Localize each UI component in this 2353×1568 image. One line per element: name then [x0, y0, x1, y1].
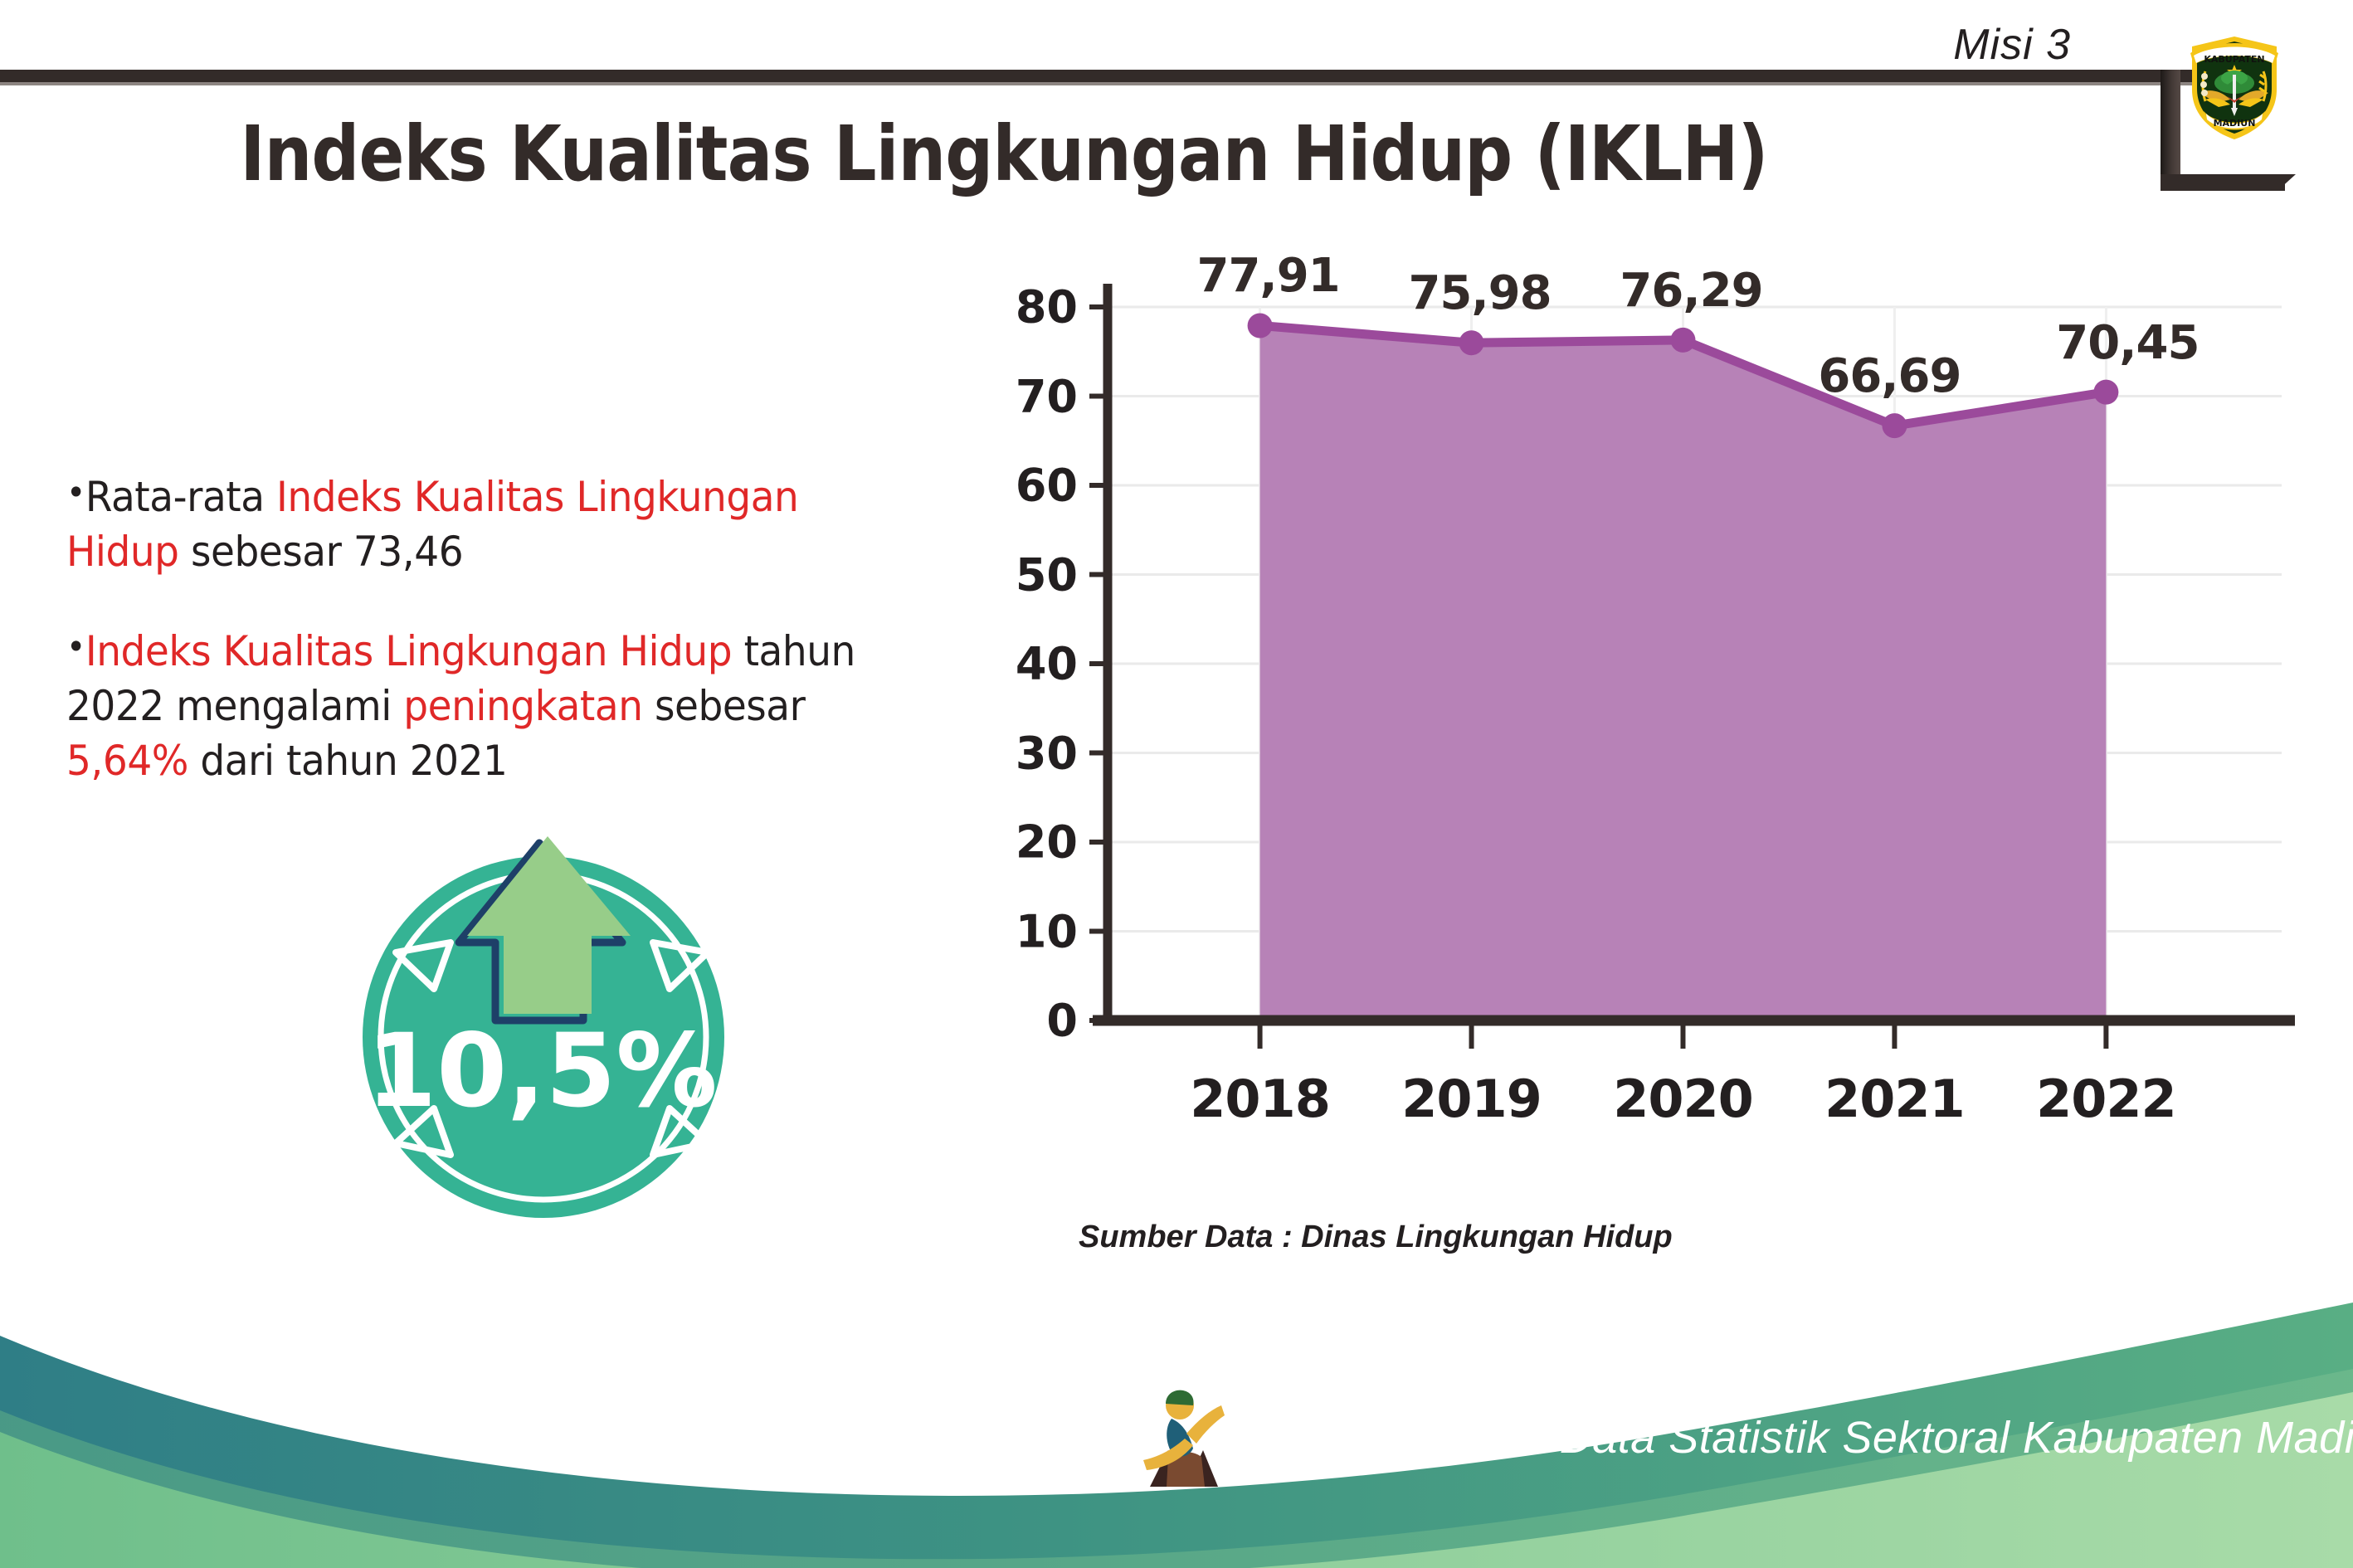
infographic-slide: Misi 3 KABUPATEN MAD [0, 0, 2353, 1568]
y-axis-tick-label: 0 [1046, 995, 1078, 1047]
x-axis-tick-label: 2019 [1401, 1069, 1542, 1129]
bullet-accent-text: peningkatan [403, 682, 642, 730]
bullet-dot-icon: • [66, 472, 85, 513]
badge-value: 10,5% [366, 1012, 717, 1130]
x-axis-tick-label: 2022 [2036, 1069, 2176, 1129]
data-point-label: 70,45 [2056, 316, 2199, 370]
y-axis-tick-label: 10 [1016, 905, 1078, 957]
y-axis-tick-label: 50 [1016, 548, 1078, 601]
data-point-label: 66,69 [1818, 349, 1961, 403]
logo-bracket-corner [2277, 174, 2296, 191]
header-rule [0, 70, 2192, 82]
footer-caption: Media Infografis Data Statistik Sektoral… [1221, 1412, 2353, 1463]
bullet-text: sebesar 73,46 [179, 528, 464, 576]
data-point[interactable] [1459, 330, 1484, 355]
data-point[interactable] [1882, 413, 1907, 438]
x-axis-tick-label: 2021 [1824, 1069, 1965, 1129]
bullet-text: sebesar [643, 682, 806, 730]
logo-bracket-horizontal [2161, 174, 2285, 191]
crest-top-text: KABUPATEN [2204, 54, 2264, 65]
chart-canvas [954, 274, 2298, 1186]
data-point[interactable] [1248, 313, 1273, 338]
y-axis-tick-label: 80 [1016, 281, 1078, 334]
chart-source-note: Sumber Data : Dinas Lingkungan Hidup [1079, 1220, 1673, 1255]
bullet-text: Rata-rata [85, 473, 276, 521]
bullet-dot-icon: • [66, 626, 85, 667]
increase-badge: 10,5% [328, 747, 759, 1244]
y-axis-tick-label: 70 [1016, 370, 1078, 422]
x-axis-tick-label: 2018 [1190, 1069, 1330, 1129]
reog-dancer-figure-icon [1135, 1381, 1233, 1497]
bullet-item: •Rata-rata Indeks Kualitas Lingkungan Hi… [66, 470, 917, 579]
madiun-coat-of-arms-icon: KABUPATEN MADIUN [2184, 28, 2285, 144]
data-point-label: 75,98 [1408, 266, 1551, 320]
data-point-label: 76,29 [1620, 264, 1762, 318]
x-axis-tick-label: 2020 [1613, 1069, 1753, 1129]
page-title: Indeks Kualitas Lingkungan Hidup (IKLH) [120, 110, 1888, 198]
bullet-accent-text: Indeks Kualitas Lingkungan Hidup [85, 627, 732, 675]
bullet-accent-text: 5,64% [66, 737, 188, 785]
y-axis-tick-label: 60 [1016, 460, 1078, 512]
iklh-area-chart: 807060504030201002018201920202021202277,… [954, 274, 2298, 1186]
data-point-label: 77,91 [1196, 249, 1339, 303]
data-point[interactable] [2093, 380, 2118, 405]
y-axis-tick-label: 40 [1016, 638, 1078, 690]
series-area [1260, 325, 2107, 1020]
y-axis-tick-label: 20 [1016, 816, 1078, 869]
data-point[interactable] [1670, 328, 1695, 353]
y-axis-tick-label: 30 [1016, 727, 1078, 779]
crest-bottom-text: MADIUN [2214, 118, 2256, 129]
header-rule-shadow [0, 82, 2192, 85]
misi-label: Misi 3 [1953, 20, 2071, 70]
logo-bracket-vertical [2161, 70, 2180, 186]
